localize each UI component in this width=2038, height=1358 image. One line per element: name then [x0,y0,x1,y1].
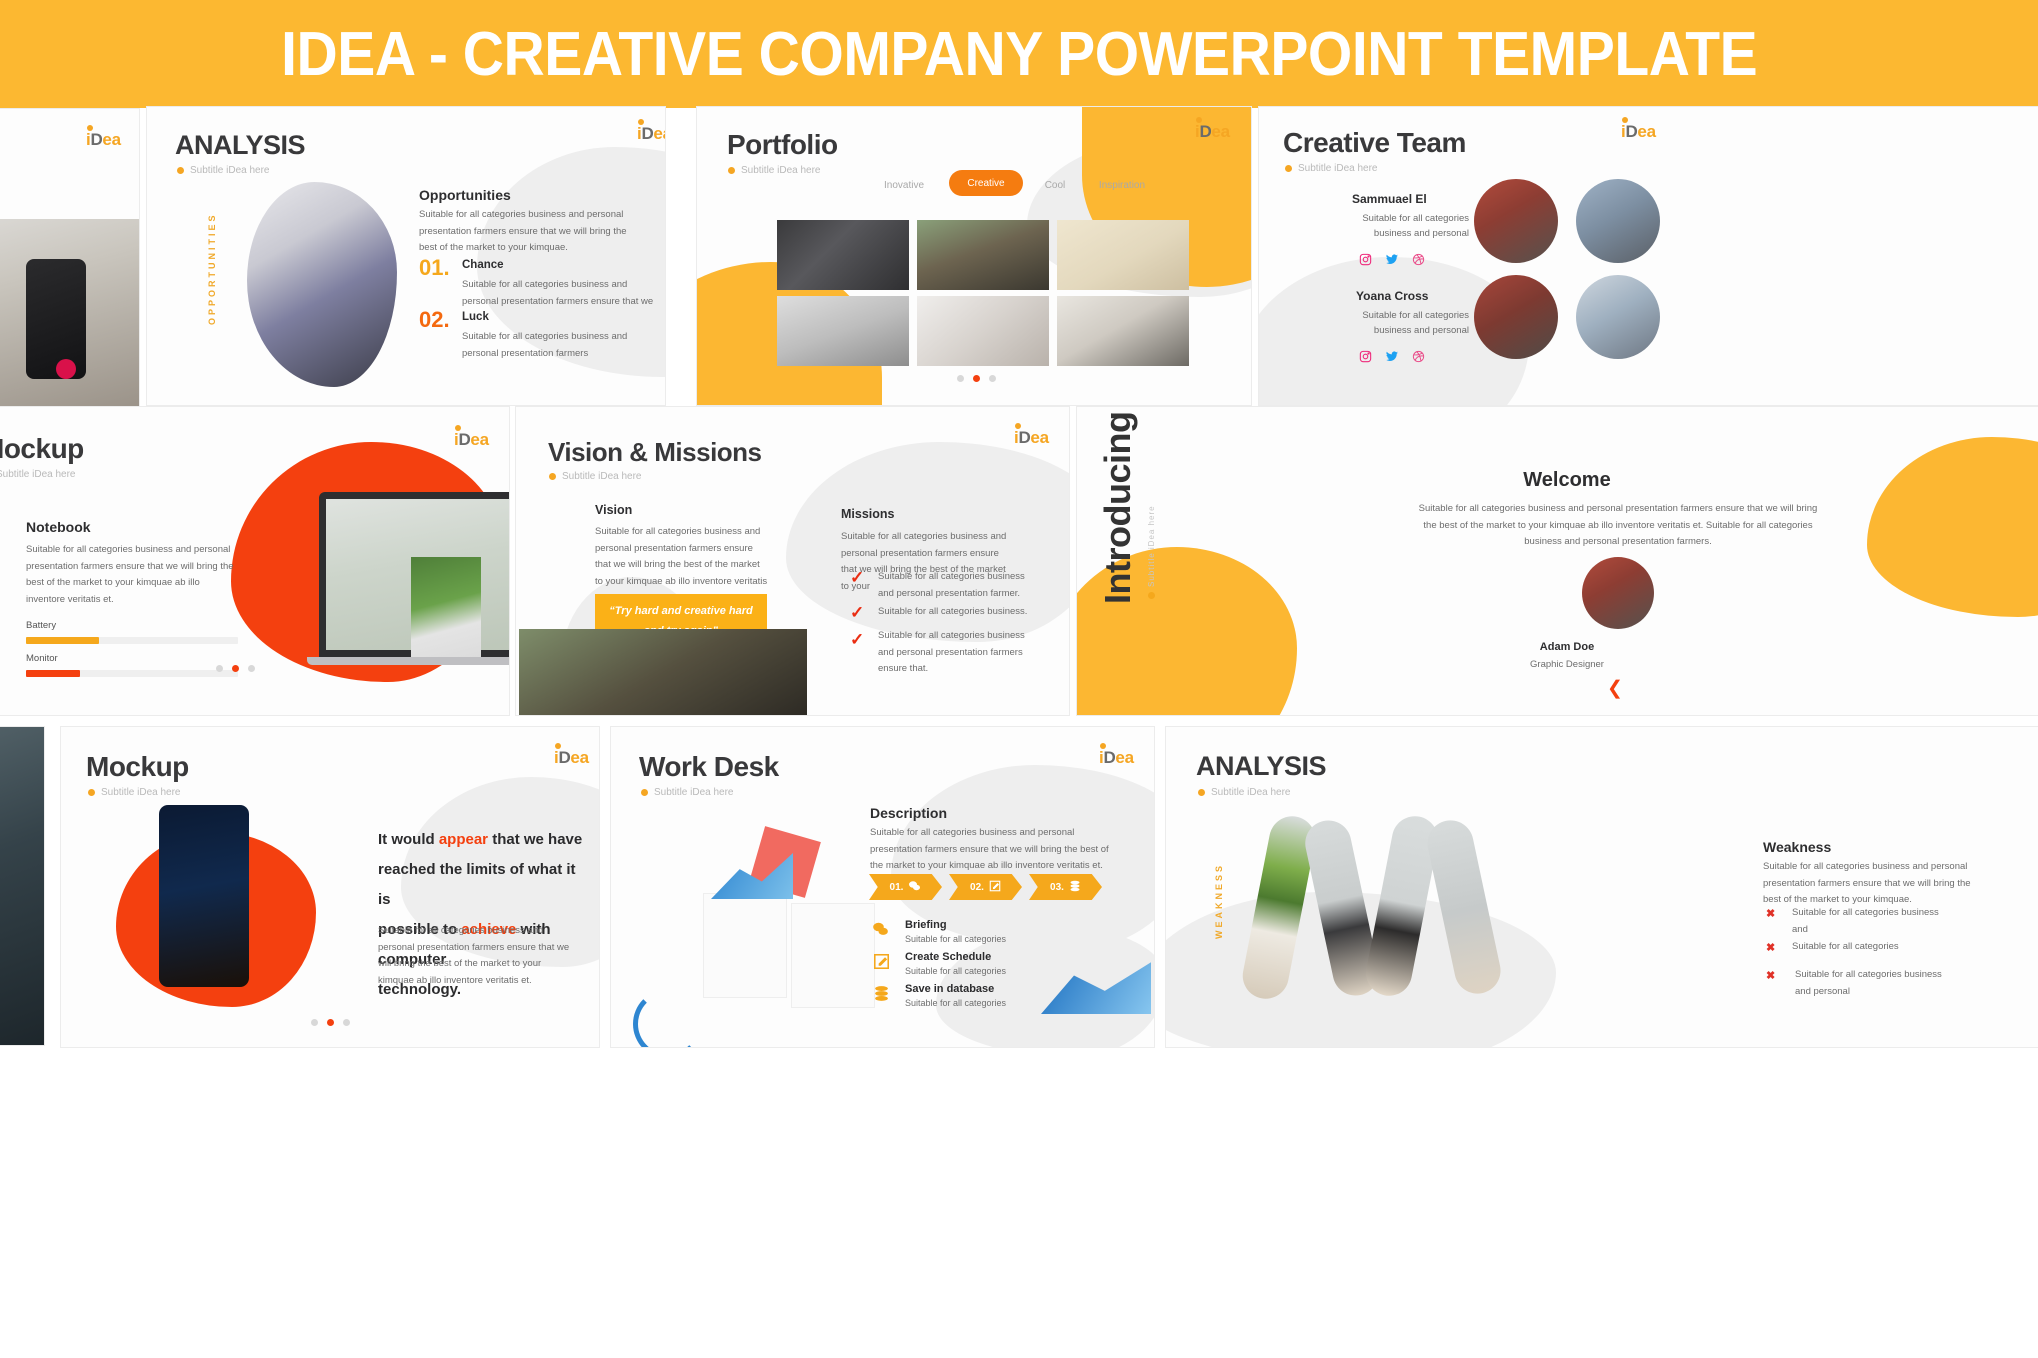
portfolio-thumb[interactable] [1057,296,1189,366]
quote-line-2: reached the limits of what it is [378,861,576,908]
member-name-1: Sammuael El [1352,192,1427,206]
check-icon: ✓ [850,631,864,648]
portfolio-thumb[interactable] [777,296,909,366]
orange-blob-right [1867,437,2038,617]
member-socials-1[interactable] [1359,253,1425,266]
description-heading: Description [870,805,947,821]
filter-cool[interactable]: Cool [1031,174,1079,196]
cross-icon: ✖ [1766,909,1775,920]
portfolio-thumb[interactable] [917,220,1049,290]
dribbble-icon[interactable] [1412,253,1425,266]
item-title-luck: Luck [462,311,489,323]
mockup-pagination[interactable] [311,1019,350,1026]
member-avatar-2b [1576,275,1660,359]
idea-logo: iDea [1621,123,1656,140]
portfolio-thumb[interactable] [1057,220,1189,290]
page-subtitle: Subtitle iDea here [641,787,734,798]
dribbble-icon[interactable] [1412,350,1425,363]
welcome-heading: Welcome [1077,469,2038,492]
page-subtitle: Subtitle iDea here [1285,163,1378,174]
cross-icon: ✖ [1766,971,1775,982]
pagination-dot-active[interactable] [973,375,980,382]
slide-analysis-opportunities[interactable]: iDea ANALYSIS Subtitle iDea here OPPORTU… [146,106,666,406]
page-subtitle: Subtitle iDea here [0,469,76,480]
mockup-pagination[interactable] [216,665,255,672]
quote-line-1: “Try hard and creative hard [609,602,752,622]
slide-work-desk[interactable]: iDea Work Desk Subtitle iDea here Descri… [610,726,1155,1048]
phone-device-photo [159,805,249,987]
pagination-dot-active[interactable] [327,1019,334,1026]
instagram-icon[interactable] [1359,350,1372,363]
pagination-dot-active[interactable] [232,665,239,672]
vertical-title-introducing: Introducing [1097,429,1139,604]
twitter-icon[interactable] [1385,253,1399,266]
slide-vision-missions[interactable]: iDea Vision & Missions Subtitle iDea her… [515,406,1070,716]
feature-title-schedule: Create Schedule [905,951,991,963]
chat-bubbles-icon [908,880,921,895]
bullet-dot-icon [549,473,556,480]
portfolio-thumb[interactable] [917,296,1049,366]
bullet-dot-icon [88,789,95,796]
slide-left-sliver[interactable] [0,726,45,1046]
logo-dot-icon [1100,743,1106,749]
circle-chart-illustration [633,989,703,1047]
page-title: Vision & Missions [548,437,762,468]
pagination-dot[interactable] [989,375,996,382]
chat-bubbles-icon [871,921,890,942]
member-avatar-1b [1576,179,1660,263]
member-desc-2-line2: business and personal [1304,323,1469,340]
member-desc-1-line2: business and personal [1304,226,1469,243]
logo-dot-icon [1196,117,1202,123]
page-title: Creative Team [1283,127,1466,159]
logo-dot-icon [455,425,461,431]
feature-sub-briefing: Suitable for all categories [905,934,1006,944]
banner-title: IDEA - CREATIVE COMPANY POWERPOINT TEMPL… [281,19,1757,90]
bar-track-battery [26,637,238,644]
weakness-item-1: Suitable for all categories business and [1792,905,1952,938]
bar-label-monitor: Monitor [26,653,58,664]
bullet-dot-icon [177,167,184,174]
laptop-base [307,657,509,665]
idea-logo: iDea [1014,429,1049,446]
page-title: Mockup [0,433,84,465]
filter-creative[interactable]: Creative [949,170,1023,196]
edit-square-icon [873,953,890,975]
logo-dot-icon [555,743,561,749]
feature-title-database: Save in database [905,983,994,995]
logo-dot-icon [87,125,93,131]
weakness-body: Suitable for all categories business and… [1763,859,1981,909]
slides-sheet: iDea iDea ANALYSIS Subtitle iDea here OP… [0,108,2038,1358]
pagination-dot[interactable] [216,665,223,672]
weakness-item-3: Suitable for all categories business and… [1795,967,1955,1000]
slide-introducing-welcome[interactable]: Introducing Subtitle iDea here Welcome S… [1076,406,2038,716]
logo-dot-icon [638,119,644,125]
bullet-dot-icon [1198,789,1205,796]
page-subtitle: Subtitle iDea here [88,787,181,798]
idea-logo: iDea [637,125,665,142]
bar-fill-battery [26,637,99,644]
chevron-down-icon[interactable]: ❮ [1607,679,1623,698]
filter-inovative[interactable]: Inovative [867,174,941,196]
slide-mockup-notebook[interactable]: iDea Mockup Subtitle iDea here Notebook … [0,406,510,716]
slide-creative-team[interactable]: iDea Creative Team Subtitle iDea here Sa… [1258,106,2038,406]
item-number-01: 01. [419,255,450,281]
item-body-chance: Suitable for all categories business and… [462,277,657,310]
welcome-body: Suitable for all categories business and… [1418,501,1818,551]
page-subtitle: Subtitle iDea here [549,471,642,482]
quote-line-1: It would appear that we have [378,831,582,848]
page-title: Mockup [86,751,189,783]
check-icon: ✓ [850,604,864,621]
item-body-luck: Suitable for all categories business and… [462,329,657,362]
phone-device-photo [26,259,86,379]
item-number-02: 02. [419,307,450,333]
mockup-body: Suitable for all categories business and… [378,923,578,990]
page-banner: IDEA - CREATIVE COMPANY POWERPOINT TEMPL… [0,0,2038,108]
page-subtitle: Subtitle iDea here [728,165,821,176]
vertical-label-opportunities: OPPORTUNITIES [207,195,217,325]
mission-item-1: Suitable for all categories business and… [878,569,1028,602]
feature-sub-schedule: Suitable for all categories [905,966,1006,976]
bullet-dot-icon [728,167,735,174]
page-title: Portfolio [727,129,838,161]
idea-logo: iDea [1195,123,1230,140]
section-heading: Notebook [26,519,91,535]
cross-icon: ✖ [1766,943,1775,954]
slide-portfolio[interactable]: iDea Portfolio Subtitle iDea here Inovat… [696,106,1252,406]
bar-label-battery: Battery [26,620,56,631]
filter-inspiration[interactable]: Inspiration [1083,174,1161,196]
page-title: ANALYSIS [175,130,305,161]
portfolio-pagination[interactable] [957,375,996,382]
logo-dot-icon [1622,117,1628,123]
section-body: Suitable for all categories business and… [26,542,241,609]
mission-item-3: Suitable for all categories business and… [878,628,1028,678]
member-avatar-2 [1474,275,1558,359]
item-title-chance: Chance [462,259,504,271]
person-avatar [1582,557,1654,629]
database-icon [873,985,890,1007]
description-body: Suitable for all categories business and… [870,825,1118,875]
pink-dot-accent [56,359,76,379]
bullet-dot-icon [1285,165,1292,172]
vision-heading: Vision [595,503,632,517]
section-heading: Opportunities [419,187,511,203]
idea-logo: iDea [86,131,121,148]
step-badge-02[interactable]: 02. [949,874,1022,900]
feature-title-briefing: Briefing [905,919,947,931]
bullet-dot-icon [1148,592,1155,599]
pagination-dot[interactable] [343,1019,350,1026]
pagination-dot[interactable] [311,1019,318,1026]
check-icon: ✓ [850,569,864,586]
idea-logo: iDea [554,749,589,766]
section-body: Suitable for all categories business and… [419,207,634,257]
mission-item-2: Suitable for all categories business. [878,604,1028,621]
step-badge-01[interactable]: 01. [869,874,942,900]
vertical-label-weakness: WEAKNESS [1214,847,1224,939]
page-title: Work Desk [639,751,779,783]
idea-logo: iDea [1099,749,1134,766]
person-role: Graphic Designer [1077,657,2038,674]
pagination-dot[interactable] [248,665,255,672]
slide-analysis-weakness[interactable]: ANALYSIS Subtitle iDea here WEAKNESS Wea… [1165,726,2038,1048]
slide-phone-mockup-partial[interactable]: iDea [0,108,140,408]
bar-track-monitor [26,670,238,677]
page-title: ANALYSIS [1196,751,1326,782]
chart-paper-illustration-2 [791,903,875,1008]
bullet-dot-icon [641,789,648,796]
bar-fill-monitor [26,670,80,677]
twitter-icon[interactable] [1385,350,1399,363]
feature-sub-database: Suitable for all categories [905,998,1006,1008]
member-socials-2[interactable] [1359,350,1425,363]
page-subtitle: Subtitle iDea here [1198,787,1291,798]
vertical-subtitle: Subtitle iDea here [1147,519,1156,587]
weakness-item-2: Suitable for all categories [1792,939,1952,956]
interior-photo [0,727,44,1045]
member-avatar-1 [1474,179,1558,263]
portfolio-thumb[interactable] [777,220,909,290]
weakness-heading: Weakness [1763,839,1831,855]
database-icon [1069,880,1081,895]
edit-square-icon [989,880,1001,895]
idea-logo: iDea [454,431,489,448]
member-name-2: Yoana Cross [1356,289,1428,303]
analysis-device-photo [247,182,397,387]
step-badge-03[interactable]: 03. [1029,874,1102,900]
pagination-dot[interactable] [957,375,964,382]
missions-heading: Missions [841,507,895,521]
logo-dot-icon [1015,423,1021,429]
plant-photo [411,557,481,657]
page-subtitle: Subtitle iDea here [177,165,270,176]
chart-paper-illustration [703,893,787,998]
instagram-icon[interactable] [1359,253,1372,266]
vision-photo [519,629,807,715]
person-name: Adam Doe [1077,641,2038,653]
slide-mockup-phone[interactable]: iDea Mockup Subtitle iDea here It would … [60,726,600,1048]
